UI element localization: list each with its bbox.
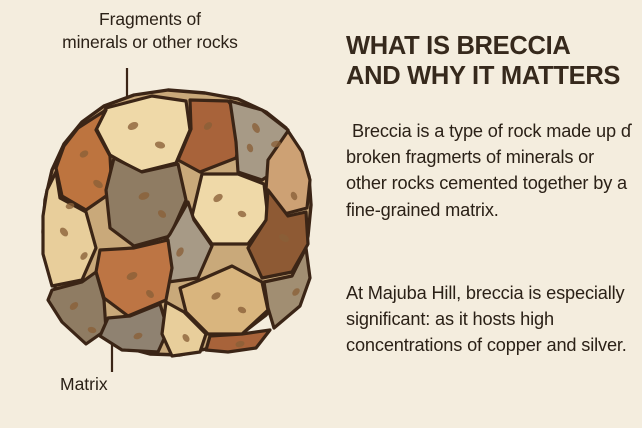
rock-clasts [43, 96, 310, 356]
page-title-line-1: WHAT IS BRECCIA [346, 32, 642, 62]
breccia-rock-illustration [0, 0, 330, 428]
illustration-panel: Fragments of minerals or other rocks Mat… [0, 0, 330, 428]
page-title: WHAT IS BRECCIA AND WHY IT MATTERS [346, 32, 642, 92]
body-paragraph-2: At Majuba Hill, breccia is especially si… [346, 280, 638, 359]
page-title-line-2: AND WHY IT MATTERS [346, 62, 642, 92]
body-paragraph-1: Breccia is a type of rock made up ɗ brok… [346, 118, 638, 223]
infographic-canvas: Fragments of minerals or other rocks Mat… [0, 0, 642, 428]
text-panel: WHAT IS BRECCIA AND WHY IT MATTERS Brecc… [338, 0, 642, 428]
